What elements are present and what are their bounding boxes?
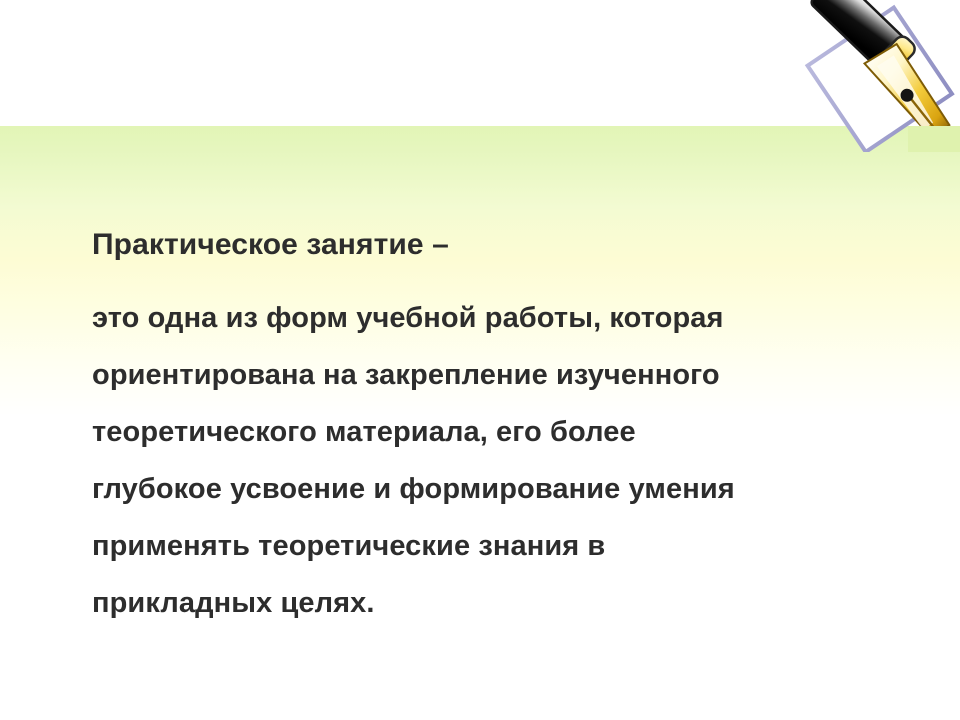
body-line: теоретического материала, его более <box>92 404 892 461</box>
slide-text-block: Практическое занятие – это одна из форм … <box>92 216 892 632</box>
body-paragraph: это одна из форм учебной работы, которая… <box>92 290 892 632</box>
body-line: прикладных целях. <box>92 575 892 632</box>
body-line: глубокое усвоение и формирование умения <box>92 461 892 518</box>
body-line: ориентирована на закрепление изученного <box>92 347 892 404</box>
fountain-pen-icon <box>790 0 960 152</box>
body-line: применять теоретические знания в <box>92 518 892 575</box>
body-line: это одна из форм учебной работы, которая <box>92 290 892 347</box>
heading-line: Практическое занятие – <box>92 216 892 273</box>
slide-canvas: Практическое занятие – это одна из форм … <box>0 0 960 720</box>
